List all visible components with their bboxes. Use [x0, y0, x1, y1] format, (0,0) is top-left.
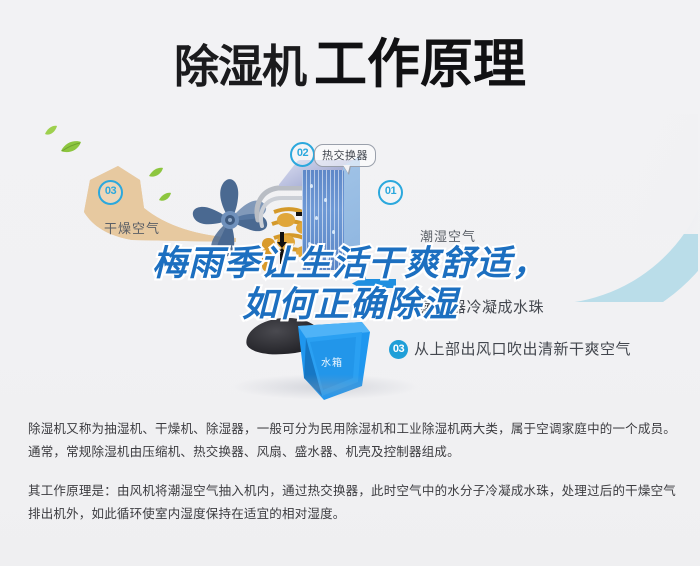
badge-03-inline: 03	[389, 340, 408, 359]
overlay-headline: 梅雨季让生活干爽舒适， 如何正确除湿	[0, 243, 700, 325]
leaf-icon	[60, 140, 82, 159]
tank-label: 水箱	[296, 354, 368, 369]
body-paragraph-1: 除湿机又称为抽湿机、干燥机、除湿器，一般可分为民用除湿机和工业除湿机两大类，属于…	[28, 418, 676, 464]
condensation-droplet	[332, 230, 335, 234]
dry-air-label: 干燥空气	[104, 218, 160, 237]
badge-02-heat-exchanger: 02	[290, 142, 315, 167]
overlay-headline-line1: 梅雨季让生活干爽舒适，	[0, 243, 700, 284]
condensation-droplet	[324, 198, 327, 202]
leaf-icon	[44, 124, 58, 142]
page-title: 除湿机工作原理	[0, 22, 700, 98]
condensation-droplet	[315, 216, 318, 220]
machine-shadow	[230, 374, 420, 400]
title-primary: 除湿机	[174, 41, 306, 92]
step-line-03: 03从上部出风口吹出清新干爽空气	[389, 338, 631, 359]
overlay-headline-line2: 如何正确除湿	[0, 284, 700, 325]
badge-03-dry-air: 03	[98, 180, 123, 205]
leaf-icon	[148, 166, 164, 184]
badge-01-humid-air: 01	[378, 180, 403, 205]
infographic-page: 除湿机工作原理	[0, 0, 700, 566]
article-body: 除湿机又称为抽湿机、干燥机、除湿器，一般可分为民用除湿机和工业除湿机两大类，属于…	[28, 418, 676, 542]
leaf-icon	[158, 190, 172, 208]
title-secondary: 工作原理	[314, 35, 526, 94]
step-03-text: 从上部出风口吹出清新干爽空气	[414, 341, 631, 358]
body-paragraph-2: 其工作原理是：由风机将潮湿空气抽入机内，通过热交换器，此时空气中的水分子冷凝成水…	[28, 480, 676, 526]
heat-exchanger-callout: 热交换器	[314, 144, 376, 167]
condensation-droplet	[310, 184, 313, 188]
